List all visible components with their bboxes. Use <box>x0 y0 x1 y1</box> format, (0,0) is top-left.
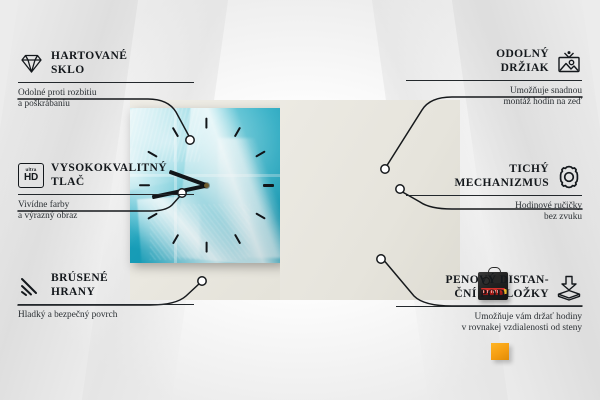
feature-durable-hanger: ODOLNÝ DRŽIAK Umožňuje snadnou montáž ho… <box>406 48 582 109</box>
feature-title: ODOLNÝ DRŽIAK <box>496 48 549 75</box>
picture-hanger-icon <box>556 49 582 75</box>
feature-header: ultra HD VYSOKOKVALITNÝ TLAČ <box>18 162 194 189</box>
feature-description: Hodinové ručičky bez zvuku <box>406 201 582 224</box>
ground-edges-icon <box>18 273 44 299</box>
ultra-hd-badge-icon: ultra HD <box>18 163 44 189</box>
gear-icon <box>556 164 582 190</box>
foam-pad-arrow-icon <box>556 275 582 301</box>
feature-high-quality-print: ultra HD VYSOKOKVALITNÝ TLAČ Vivídne far… <box>18 162 194 223</box>
feature-divider <box>18 194 194 195</box>
diamond-icon <box>18 51 44 77</box>
feature-foam-spacers: PENOVÝ DISTAN- ČNÍ PODLOŽKY Umožňuje vám… <box>396 274 582 335</box>
feature-header: TICHÝ MECHANIZMUS <box>406 163 582 190</box>
connector-node <box>381 165 389 173</box>
connector-node <box>377 255 385 263</box>
feature-header: ODOLNÝ DRŽIAK <box>406 48 582 75</box>
feature-divider <box>18 82 194 83</box>
feature-title: PENOVÝ DISTAN- ČNÍ PODLOŽKY <box>446 274 549 301</box>
infographic-canvas: HARTOVANÉ SKLO Odolné proti rozbitiu a p… <box>0 0 600 400</box>
feature-header: HARTOVANÉ SKLO <box>18 50 194 77</box>
feature-hardened-glass: HARTOVANÉ SKLO Odolné proti rozbitiu a p… <box>18 50 194 111</box>
feature-divider <box>396 306 582 307</box>
feature-silent-mechanism: TICHÝ MECHANIZMUS Hodinové ručičky bez z… <box>406 163 582 224</box>
connector-node <box>198 277 206 285</box>
feature-ground-edges: BRÚSENÉ HRANY Hladký a bezpečný povrch <box>18 272 194 321</box>
hd-label: HD <box>24 173 38 183</box>
connector-node <box>186 136 194 144</box>
feature-description: Hladký a bezpečný povrch <box>18 310 194 321</box>
feature-description: Vivídne farby a výrazný obraz <box>18 200 194 223</box>
feature-header: BRÚSENÉ HRANY <box>18 272 194 299</box>
feature-title: BRÚSENÉ HRANY <box>51 272 108 299</box>
feature-description: Umožňuje snadnou montáž hodín na zeď <box>406 86 582 109</box>
feature-description: Odolné proti rozbitiu a poškrábaniu <box>18 88 194 111</box>
feature-title: HARTOVANÉ SKLO <box>51 50 127 77</box>
feature-divider <box>18 304 194 305</box>
feature-divider <box>406 195 582 196</box>
connector-node <box>396 185 404 193</box>
feature-header: PENOVÝ DISTAN- ČNÍ PODLOŽKY <box>396 274 582 301</box>
feature-divider <box>406 80 582 81</box>
feature-description: Umožňuje vám držať hodiny v rovnakej vzd… <box>396 312 582 335</box>
feature-title: VYSOKOKVALITNÝ TLAČ <box>51 162 167 189</box>
feature-title: TICHÝ MECHANIZMUS <box>455 163 550 190</box>
